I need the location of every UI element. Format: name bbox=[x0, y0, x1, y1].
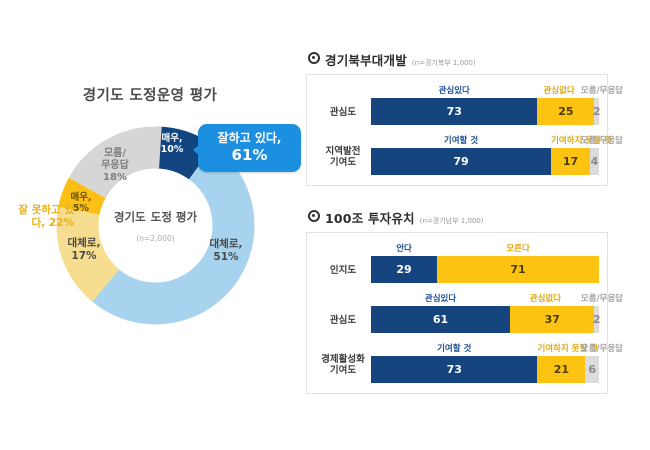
donut-center-line1: 경기도 bbox=[114, 210, 146, 224]
legend-dontknow: 모름/무응답 bbox=[581, 84, 599, 96]
row-body: 기여할 것 기여하지 못할 것 모름/무응답 73 21 6 bbox=[371, 342, 599, 383]
callout-positive-value: 61% bbox=[202, 146, 297, 164]
section-header: 100조 투자유치 (n=경기남부 1,000) bbox=[306, 208, 612, 227]
legend-positive: 기여할 것 bbox=[371, 134, 551, 146]
stacked-bar: 73 25 2 bbox=[371, 98, 599, 125]
callout-negative-value: 22% bbox=[49, 217, 74, 229]
row-label-line2: 기여도 bbox=[330, 365, 356, 376]
bar-segment-dontknow: 2 bbox=[594, 306, 599, 333]
stacked-bar: 29 71 bbox=[371, 256, 599, 283]
legend-negative: 관심없다 bbox=[537, 84, 580, 96]
row-legend: 관심있다 관심없다 모름/무응답 bbox=[371, 292, 599, 304]
section-north-development: 경기북부대개발 (n=경기북부 1,000) 관심도 관심있다 관심없다 모름/… bbox=[306, 50, 612, 186]
stacked-bar: 73 21 6 bbox=[371, 356, 599, 383]
section-investment: 100조 투자유치 (n=경기남부 1,000) 인지도 안다 모른다 29 7… bbox=[306, 208, 612, 394]
row-label: 지역발전 기여도 bbox=[315, 146, 371, 175]
row-legend: 안다 모른다 bbox=[371, 242, 599, 254]
section-title: 100조 투자유치 bbox=[325, 208, 415, 227]
row-label-line1: 관심도 bbox=[330, 315, 356, 326]
bar-segment-positive: 73 bbox=[371, 356, 537, 383]
row-label-line1: 인지도 bbox=[330, 265, 356, 276]
chart-row: 인지도 안다 모른다 29 71 bbox=[315, 242, 599, 283]
chart-row: 관심도 관심있다 관심없다 모름/무응답 73 25 2 bbox=[315, 84, 599, 125]
bar-segment-positive: 73 bbox=[371, 98, 537, 125]
chart-panel: 인지도 안다 모른다 29 71 관심도 관심있다 관심없다 bbox=[306, 232, 608, 394]
row-body: 기여할 것 기여하지 못할 것 모름/무응답 79 17 4 bbox=[371, 134, 599, 175]
bar-segment-negative: 21 bbox=[537, 356, 585, 383]
legend-negative: 기여하지 못할 것 bbox=[537, 342, 580, 354]
legend-positive: 안다 bbox=[371, 242, 437, 254]
bar-segment-negative: 17 bbox=[551, 148, 590, 175]
legend-positive: 관심있다 bbox=[371, 84, 537, 96]
row-label: 관심도 bbox=[315, 315, 371, 333]
chart-row: 경제활성화 기여도 기여할 것 기여하지 못할 것 모름/무응답 73 21 6 bbox=[315, 342, 599, 383]
row-label: 관심도 bbox=[315, 107, 371, 125]
callout-positive: 잘하고 있다, 61% bbox=[198, 124, 301, 172]
bar-segment-negative: 25 bbox=[537, 98, 594, 125]
row-label-line1: 경제활성화 bbox=[321, 354, 365, 365]
section-sample-size: (n=경기북부 1,000) bbox=[412, 58, 476, 68]
row-legend: 관심있다 관심없다 모름/무응답 bbox=[371, 84, 599, 96]
bar-segment-dontknow: 2 bbox=[594, 98, 599, 125]
row-label: 인지도 bbox=[315, 265, 371, 283]
row-label-line2: 기여도 bbox=[330, 157, 356, 168]
legend-dontknow: 모름/무응답 bbox=[581, 342, 599, 354]
row-label: 경제활성화 기여도 bbox=[315, 354, 371, 383]
bullet-icon bbox=[308, 210, 320, 222]
row-label-line1: 관심도 bbox=[330, 107, 356, 118]
bar-segment-negative: 37 bbox=[510, 306, 594, 333]
stacked-bar: 61 37 2 bbox=[371, 306, 599, 333]
section-sample-size: (n=경기남부 1,000) bbox=[420, 216, 484, 226]
row-label-line1: 지역발전 bbox=[326, 146, 361, 157]
stacked-bar: 79 17 4 bbox=[371, 148, 599, 175]
row-body: 관심있다 관심없다 모름/무응답 73 25 2 bbox=[371, 84, 599, 125]
bar-segment-positive: 79 bbox=[371, 148, 551, 175]
legend-negative: 기여하지 못할 것 bbox=[551, 134, 581, 146]
legend-dontknow: 모름/무응답 bbox=[581, 134, 599, 146]
chart-row: 관심도 관심있다 관심없다 모름/무응답 61 37 2 bbox=[315, 292, 599, 333]
donut-center-sample-size: (n=2,000) bbox=[136, 234, 174, 243]
bar-segment-dontknow: 6 bbox=[585, 356, 599, 383]
bar-segment-positive: 61 bbox=[371, 306, 510, 333]
row-body: 관심있다 관심없다 모름/무응답 61 37 2 bbox=[371, 292, 599, 333]
legend-dontknow: 모름/무응답 bbox=[581, 292, 599, 304]
callout-positive-label: 잘하고 있다, bbox=[202, 131, 297, 145]
row-body: 안다 모른다 29 71 bbox=[371, 242, 599, 283]
donut-center-label: 경기도 도정 평가 (n=2,000) bbox=[101, 206, 211, 246]
legend-positive: 기여할 것 bbox=[371, 342, 537, 354]
callout-negative: 잘 못하고 있다, 22% bbox=[8, 204, 74, 230]
row-legend: 기여할 것 기여하지 못할 것 모름/무응답 bbox=[371, 342, 599, 354]
chart-row: 지역발전 기여도 기여할 것 기여하지 못할 것 모름/무응답 79 17 4 bbox=[315, 134, 599, 175]
page-title: 경기도 도정운영 평가 bbox=[0, 84, 300, 105]
bullet-icon bbox=[308, 52, 320, 64]
bar-segment-dontknow: 4 bbox=[590, 148, 599, 175]
bar-segment-negative: 71 bbox=[437, 256, 599, 283]
legend-negative: 관심없다 bbox=[510, 292, 581, 304]
callout-negative-line1: 잘 못하고 bbox=[18, 204, 60, 216]
legend-negative: 모른다 bbox=[437, 242, 599, 254]
section-title: 경기북부대개발 bbox=[325, 50, 407, 69]
legend-positive: 관심있다 bbox=[371, 292, 510, 304]
donut-center-line2: 도정 평가 bbox=[151, 210, 197, 224]
donut-chart-panel: 경기도 도정운영 평가 경기도 도정 평가 (n=2,000) bbox=[0, 0, 300, 450]
chart-panel: 관심도 관심있다 관심없다 모름/무응답 73 25 2 지역발전 기여도 bbox=[306, 74, 608, 186]
section-header: 경기북부대개발 (n=경기북부 1,000) bbox=[306, 50, 612, 69]
bar-segment-positive: 29 bbox=[371, 256, 437, 283]
row-legend: 기여할 것 기여하지 못할 것 모름/무응답 bbox=[371, 134, 599, 146]
